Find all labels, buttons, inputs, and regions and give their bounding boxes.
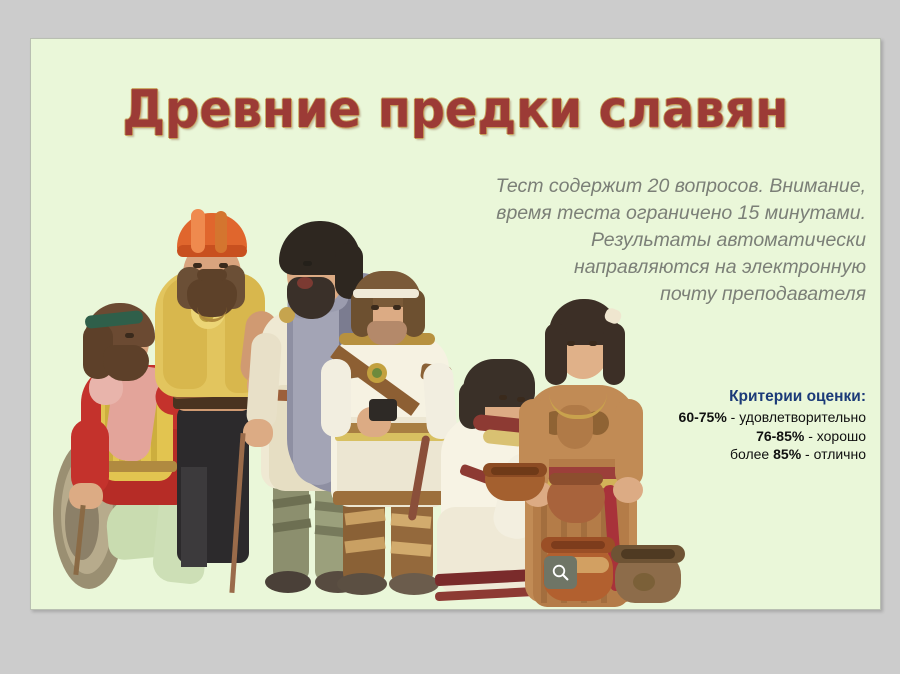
criteria-separator: -: [727, 409, 739, 425]
criteria-prefix: более: [730, 446, 773, 462]
criteria-range: 60-75%: [679, 409, 727, 425]
test-description: Тест содержит 20 вопросов. Внимание, вре…: [446, 173, 866, 308]
zoom-image-button[interactable]: [544, 556, 577, 589]
criteria-label: хорошо: [817, 428, 866, 444]
description-line: почту преподавателя: [446, 281, 866, 308]
description-line: направляются на электронную: [446, 254, 866, 281]
criteria-range: 76-85%: [756, 428, 804, 444]
description-line: время теста ограничено 15 минутами.: [446, 200, 866, 227]
criteria-label: отлично: [814, 446, 866, 462]
grading-criteria-heading: Критерии оценки:: [536, 387, 866, 407]
page-title: Древние предки славян: [65, 81, 846, 139]
grading-criteria: Критерии оценки: 60-75% - удовлетворител…: [536, 387, 866, 464]
object-clay-pot-small: [611, 543, 687, 605]
presentation-slide: Древние предки славян Тест содержит 20 в…: [30, 38, 881, 610]
search-icon: [551, 563, 570, 582]
description-line: Тест содержит 20 вопросов. Внимание,: [446, 173, 866, 200]
criteria-separator: -: [801, 446, 813, 462]
screenshot-viewport: Древние предки славян Тест содержит 20 в…: [0, 0, 900, 674]
criteria-label: удовлетворительно: [739, 409, 866, 425]
grading-criteria-row: 60-75% - удовлетворительно: [536, 408, 866, 427]
grading-criteria-row: 76-85% - хорошо: [536, 427, 866, 446]
criteria-separator: -: [804, 428, 816, 444]
criteria-range: 85%: [773, 446, 801, 462]
object-clay-bowl: [483, 459, 549, 503]
grading-criteria-row: более 85% - отлично: [536, 445, 866, 464]
description-line: Результаты автоматически: [446, 227, 866, 254]
